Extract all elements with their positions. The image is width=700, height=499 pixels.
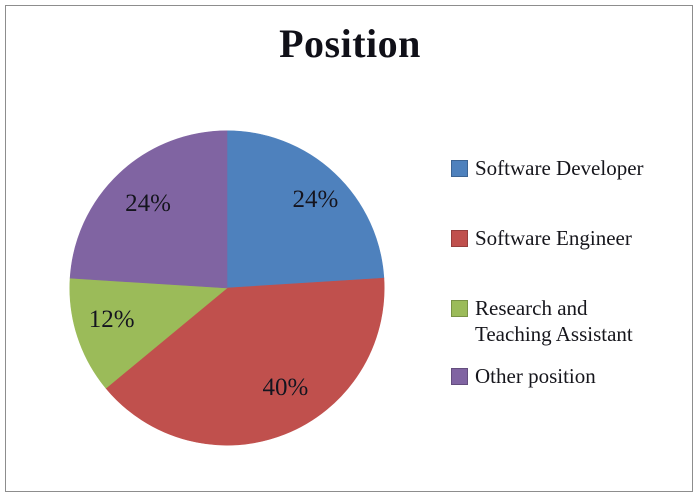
legend-item-label: Software Engineer bbox=[475, 225, 632, 251]
legend-color-swatch bbox=[451, 368, 468, 385]
legend-item-label: Other position bbox=[475, 363, 596, 389]
pie-svg bbox=[69, 130, 385, 446]
legend-item-label: Research and Teaching Assistant bbox=[475, 295, 633, 347]
legend-item-label: Software Developer bbox=[475, 155, 644, 181]
pie-slice-group bbox=[70, 131, 384, 445]
pie-chart: 24%40%12%24% bbox=[69, 130, 385, 446]
legend-color-swatch bbox=[451, 160, 468, 177]
legend-item[interactable]: Other position bbox=[451, 363, 596, 389]
chart-legend: Software DeveloperSoftware EngineerResea… bbox=[451, 155, 691, 405]
pie-slice-label: 12% bbox=[89, 306, 135, 334]
pie-slice-label: 40% bbox=[263, 374, 309, 402]
chart-canvas: Position 24%40%12%24% Software Developer… bbox=[0, 0, 700, 499]
page-title: Position bbox=[0, 24, 700, 64]
legend-color-swatch bbox=[451, 300, 468, 317]
legend-item[interactable]: Software Engineer bbox=[451, 225, 632, 251]
pie-slice-label: 24% bbox=[125, 190, 171, 218]
legend-color-swatch bbox=[451, 230, 468, 247]
pie-slice-label: 24% bbox=[293, 186, 339, 214]
legend-item[interactable]: Research and Teaching Assistant bbox=[451, 295, 633, 347]
legend-item[interactable]: Software Developer bbox=[451, 155, 644, 181]
